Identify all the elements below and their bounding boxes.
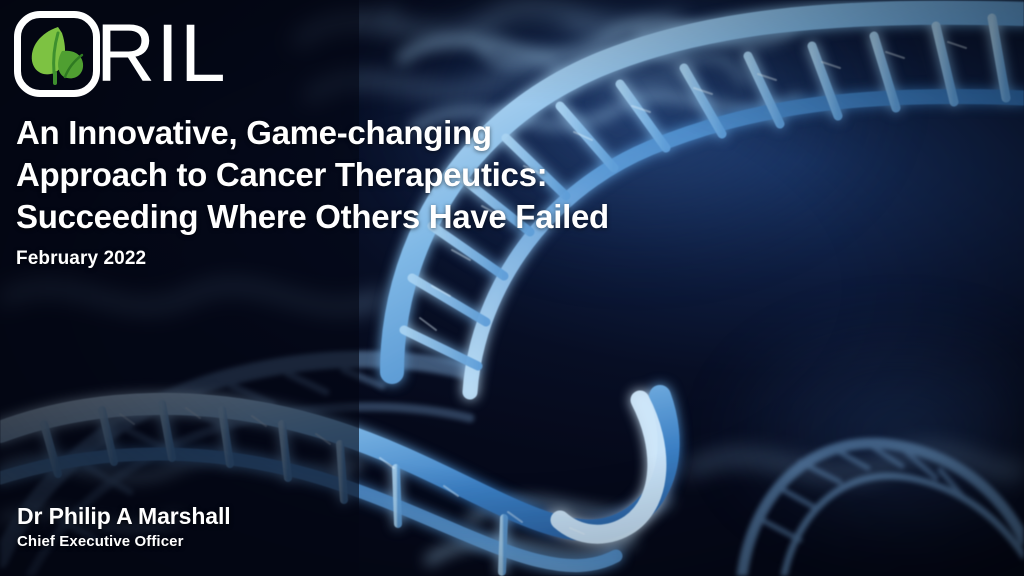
logo-wordmark: RIL [96, 13, 227, 95]
logo-letter-r: R [96, 13, 156, 95]
speaker-name: Dr Philip A Marshall [17, 503, 231, 530]
speaker-role: Chief Executive Officer [17, 533, 231, 550]
presentation-slide: RIL An Innovative, Game-changing Approac… [0, 0, 1024, 576]
title-line-2: Approach to Cancer Therapeutics: [16, 154, 696, 196]
slide-title-block: An Innovative, Game-changing Approach to… [16, 112, 696, 270]
leaf-icon [28, 23, 86, 85]
oril-logo: RIL [14, 8, 227, 100]
slide-date: February 2022 [16, 248, 696, 270]
logo-o-mark [14, 11, 100, 97]
logo-letter-l: L [180, 13, 227, 95]
title-line-1: An Innovative, Game-changing [16, 112, 696, 154]
logo-letter-i: I [156, 13, 180, 95]
title-line-3: Succeeding Where Others Have Failed [16, 196, 696, 238]
speaker-attribution: Dr Philip A Marshall Chief Executive Off… [17, 503, 231, 550]
